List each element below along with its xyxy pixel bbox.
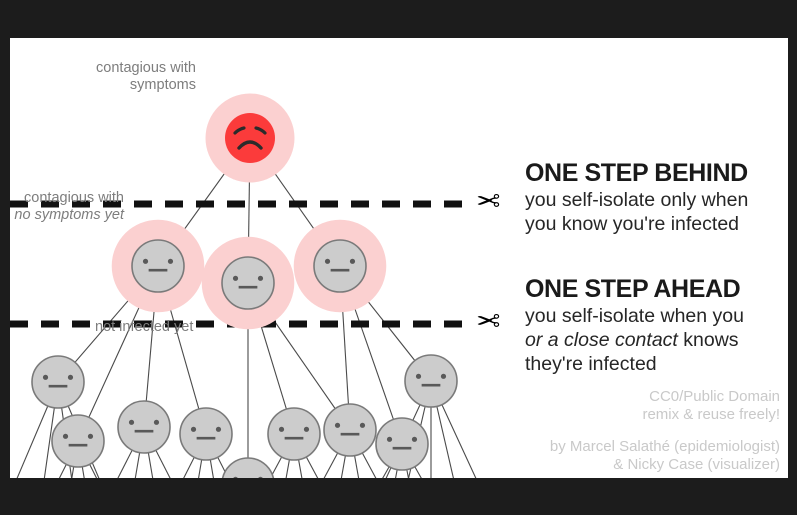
left-eye — [416, 374, 421, 379]
person-node-n10-susceptible — [324, 404, 376, 456]
face-circle — [376, 418, 428, 470]
person-node-n5-susceptible — [52, 415, 104, 467]
left-eye — [43, 375, 48, 380]
right-eye — [154, 420, 159, 425]
person-node-n7-susceptible — [180, 408, 232, 460]
right-eye — [258, 276, 263, 281]
license-credit: CC0/Public Domain remix & reuse freely! — [460, 388, 780, 425]
callout-ahead-body: you self-isolate when you or a close con… — [525, 305, 744, 376]
callout-ahead-line-2-rest: knows — [678, 329, 739, 351]
person-node-n11-susceptible — [376, 418, 428, 470]
right-eye — [168, 259, 173, 264]
left-eye — [143, 259, 148, 264]
left-eye — [233, 276, 238, 281]
left-eye — [129, 420, 134, 425]
person-node-n1-exposed — [112, 220, 205, 313]
person-node-n0-infected — [206, 94, 295, 183]
left-eye — [63, 434, 68, 439]
label-not-infected-yet: not infected yet — [95, 319, 225, 336]
face-circle — [132, 240, 184, 292]
label-part-italic: no symptoms yet — [14, 207, 124, 223]
right-eye — [88, 434, 93, 439]
person-node-n3-exposed — [294, 220, 387, 313]
right-eye — [412, 437, 417, 442]
label-part-plain: contagious with — [24, 190, 124, 206]
face-circle — [225, 113, 275, 163]
right-eye — [68, 375, 73, 380]
label-contagious-with-symptoms: contagious with symptoms — [36, 60, 196, 95]
license-line-1: CC0/Public Domain — [460, 388, 780, 406]
author-line-2: & Nicky Case (visualizer) — [460, 456, 780, 474]
callout-ahead-line-3: they're infected — [525, 353, 744, 377]
author-credit: by Marcel Salathé (epidemiologist) & Nic… — [460, 438, 780, 475]
callout-behind-line-2: you know you're infected — [525, 213, 748, 237]
right-eye — [441, 374, 446, 379]
face-circle — [32, 356, 84, 408]
face-circle — [118, 401, 170, 453]
face-circle — [180, 408, 232, 460]
person-node-n9-susceptible — [268, 408, 320, 460]
face-circle — [324, 404, 376, 456]
right-eye — [216, 427, 221, 432]
right-eye — [350, 259, 355, 264]
left-eye — [279, 427, 284, 432]
face-circle — [222, 257, 274, 309]
person-node-n8-susceptible — [222, 458, 274, 478]
label-contagious-with-no-symptoms-yet: contagious with no symptoms yet — [14, 190, 124, 225]
callout-one-step-behind: ONE STEP BEHIND you self-isolate only wh… — [525, 160, 748, 237]
person-node-n2-exposed — [202, 237, 295, 330]
scissors-icon-one-step-ahead: ✂ — [476, 308, 500, 337]
left-eye — [325, 259, 330, 264]
person-nodes-layer — [32, 94, 457, 479]
license-line-2: remix & reuse freely! — [460, 406, 780, 424]
callout-behind-body: you self-isolate only when you know you'… — [525, 189, 748, 237]
callout-one-step-ahead: ONE STEP AHEAD you self-isolate when you… — [525, 276, 744, 377]
scissors-icon-one-step-behind: ✂ — [476, 188, 500, 217]
left-eye — [387, 437, 392, 442]
right-eye — [360, 423, 365, 428]
person-node-n4-susceptible — [32, 356, 84, 408]
callout-ahead-line-2-italic: or a close contact — [525, 329, 678, 351]
face-circle — [52, 415, 104, 467]
person-node-n12-susceptible — [405, 355, 457, 407]
infographic-canvas: ✂ ✂ contagious with symptoms contagious … — [10, 38, 788, 478]
callout-ahead-line-2: or a close contact knows — [525, 329, 744, 353]
left-eye — [335, 423, 340, 428]
callout-behind-heading: ONE STEP BEHIND — [525, 160, 748, 186]
right-eye — [304, 427, 309, 432]
callout-behind-line-1: you self-isolate only when — [525, 189, 748, 213]
face-circle — [405, 355, 457, 407]
callout-ahead-line-1: you self-isolate when you — [525, 305, 744, 329]
callout-ahead-heading: ONE STEP AHEAD — [525, 276, 744, 302]
left-eye — [191, 427, 196, 432]
credits-block: CC0/Public Domain remix & reuse freely! … — [460, 388, 780, 474]
face-circle — [268, 408, 320, 460]
face-circle — [222, 458, 274, 478]
screenshot-frame: ✂ ✂ contagious with symptoms contagious … — [0, 0, 797, 515]
person-node-n6-susceptible — [118, 401, 170, 453]
author-line-1: by Marcel Salathé (epidemiologist) — [460, 438, 780, 456]
face-circle — [314, 240, 366, 292]
